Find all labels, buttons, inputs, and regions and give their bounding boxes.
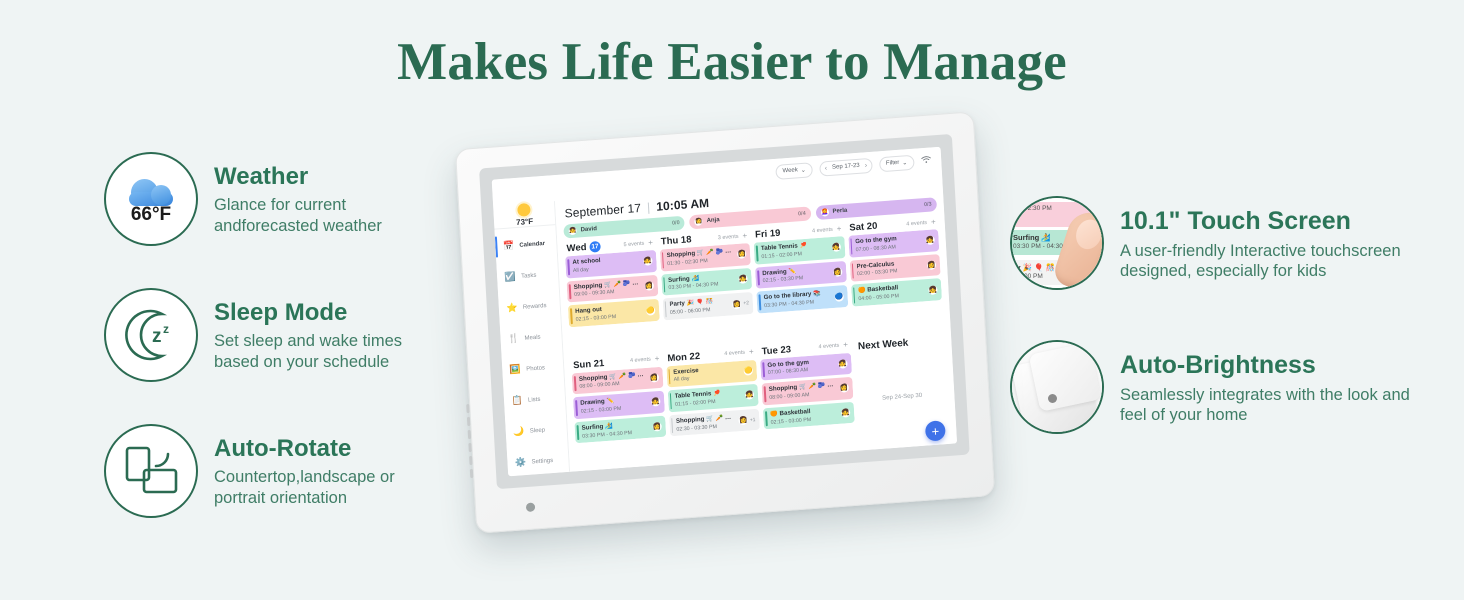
avatar: 🟡	[743, 366, 752, 376]
event-color-bar	[662, 252, 664, 268]
filter-button[interactable]: Filter ⌄	[879, 154, 915, 172]
sidebar-item-label: Sleep	[530, 427, 546, 434]
tasks-icon: ☑️	[504, 271, 517, 284]
light-sensor-icon	[1010, 340, 1104, 434]
rewards-icon: ⭐	[506, 302, 519, 315]
event-text: Shopping 🛒 🥕 🫐 🌶️ 🍅08:00 - 09:00 AM	[767, 381, 840, 402]
event-color-bar	[757, 270, 759, 286]
event-card[interactable]: 🟠 Basketball02:15 - 03:00 PM👧	[763, 402, 854, 430]
feature-desc: Set sleep and wake times based on your s…	[214, 331, 434, 373]
day-event-count: 4 events	[818, 343, 839, 351]
day-name: Sun 21	[573, 357, 605, 370]
sidebar-item-calendar[interactable]: 📅 Calendar	[495, 227, 558, 262]
event-text: Pre-Calculus02:00 - 03:30 PM	[854, 258, 927, 279]
avatar: 👩	[833, 267, 842, 277]
event-color-bar	[669, 393, 671, 409]
avatar: 👩	[732, 299, 741, 309]
add-event-icon[interactable]: +	[931, 218, 936, 226]
event-text: Table Tennis 🏓01:15 - 02:00 PM	[672, 388, 745, 409]
member-task-count: 0/0	[672, 220, 680, 227]
avatar: 👧	[738, 274, 747, 284]
avatar: 👧	[643, 257, 652, 267]
cloud-temperature-icon: 66°F	[104, 152, 198, 246]
feature-touch-screen: 00 - 02:30 PM Surfing 🏄 03:30 PM - 04:30…	[1010, 196, 1410, 290]
day-name: Tue 23	[761, 344, 791, 357]
avatar: 🟡	[645, 306, 654, 316]
event-color-bar	[758, 295, 760, 311]
event-color-bar	[575, 400, 577, 416]
feature-desc: Glance for current andforecasted weather	[214, 195, 434, 237]
event-color-bar	[569, 284, 571, 300]
member-name: Perla	[832, 208, 847, 215]
member-task-count: 0/3	[924, 202, 932, 209]
camera-dot	[526, 502, 535, 512]
chevron-down-icon: ⌄	[902, 159, 907, 166]
event-text: At schoolAll day	[570, 254, 643, 275]
day-meta: 4 events+	[818, 341, 848, 351]
event-text: Table Tennis 🏓01:15 - 02:00 PM	[759, 240, 832, 261]
chevron-down-icon: ⌄	[801, 166, 806, 173]
event-color-bar	[574, 376, 576, 392]
event-card[interactable]: Hang out02:15 - 03:00 PM🟡	[568, 299, 659, 327]
event-text: Drawing ✏️02:15 - 03:00 PM	[578, 395, 651, 416]
day-name: Fri 19	[755, 228, 781, 241]
add-event-icon[interactable]: +	[655, 355, 660, 363]
day-meta: 4 events+	[906, 218, 936, 228]
event-text: Surfing 🏄03:30 PM - 04:30 PM	[580, 419, 653, 440]
event-more-count: +1	[750, 417, 756, 423]
calendar-icon: 📅	[502, 240, 515, 253]
event-card[interactable]: Table Tennis 🏓01:15 - 02:00 PM👧	[667, 384, 758, 412]
current-time: 10:05 AM	[656, 196, 710, 214]
event-color-bar	[762, 362, 764, 378]
tablet-bezel: Week ⌄ ‹ Sep 17-23 › Filter ⌄	[479, 134, 970, 489]
filter-label: Filter	[886, 160, 900, 167]
event-card[interactable]: Drawing ✏️02:15 - 03:00 PM👧	[573, 391, 664, 419]
current-date: September 17	[564, 201, 641, 221]
auto-rotate-icon	[104, 424, 198, 518]
day-event-count: 4 events	[906, 219, 927, 227]
feature-title: Auto-Rotate	[214, 436, 434, 462]
avatar: 👧	[745, 391, 754, 401]
day-label: Wed	[566, 242, 586, 254]
event-text: Go to the gym07:00 - 08:30 AM	[853, 233, 926, 254]
avatar: 👧	[925, 236, 934, 246]
day-column: Sun 214 events+Shopping 🛒 🥕 🫐 🌶️ 🍅08:00 …	[571, 352, 668, 471]
sidebar-item-sleep[interactable]: 🌙 Sleep	[505, 413, 568, 448]
tablet-illustration: Week ⌄ ‹ Sep 17-23 › Filter ⌄	[455, 120, 1015, 560]
event-list: Shopping 🛒 🥕 🫐 🌶️ 🍅08:00 - 09:00 AM👩Draw…	[572, 366, 666, 443]
day-meta: 4 events+	[724, 348, 754, 358]
avatar: 👧	[838, 359, 847, 369]
event-text: Go to the gym07:00 - 08:30 AM	[765, 356, 838, 377]
event-card[interactable]: Surfing 🏄03:30 PM - 04:30 PM👧	[661, 268, 752, 296]
avatar: 👧	[831, 243, 840, 253]
page-title: Makes Life Easier to Manage	[0, 32, 1464, 92]
avatar: 🔵	[834, 292, 843, 302]
sidebar-item-lists[interactable]: 📋 Lists	[503, 382, 566, 417]
event-color-bar	[765, 411, 767, 427]
sidebar-item-label: Meals	[524, 334, 540, 341]
day-name: Sat 20	[849, 221, 878, 234]
day-label: Fri 19	[755, 228, 781, 241]
event-color-bar	[671, 418, 673, 434]
member-task-count: 0/4	[798, 211, 806, 218]
feature-title: 10.1" Touch Screen	[1120, 208, 1410, 236]
view-selector[interactable]: Week ⌄	[775, 162, 813, 180]
event-text: Party 🎉 🎈 🎊05:00 - 06:00 PM	[667, 297, 732, 317]
date-time-separator: |	[647, 200, 651, 214]
event-list: ExerciseAll day🟡Table Tennis 🏓01:15 - 02…	[666, 359, 760, 436]
event-card[interactable]: Shopping 🛒 🥕 🫐 🌶️ 🍅08:00 - 09:00 AM👩	[761, 377, 852, 405]
event-color-bar	[664, 302, 666, 318]
date-range-label: Sep 17-23	[832, 163, 860, 171]
settings-icon: ⚙️	[514, 456, 527, 469]
event-card[interactable]: Shopping 🛒 🥕 🫐 🌶️ 🍅02:30 - 03:30 PM👩+1	[669, 409, 760, 437]
avatar: 👩	[644, 281, 653, 291]
event-list: Go to the gym07:00 - 08:30 AM👧Shopping 🛒…	[760, 352, 854, 429]
event-text: ExerciseAll day	[671, 363, 744, 384]
avatar: 👩	[649, 373, 658, 383]
lists-icon: 📋	[511, 395, 524, 408]
day-name: Mon 22	[667, 350, 700, 363]
weather-badge-temp: 66°F	[106, 204, 196, 226]
speaker-grille	[466, 400, 478, 496]
day-event-count: 4 events	[724, 350, 745, 358]
event-text: Shopping 🛒 🥕 🫐 🌶️ 🍅08:00 - 09:00 AM	[577, 370, 650, 391]
event-color-bar	[853, 288, 855, 304]
svg-text:z: z	[152, 326, 162, 347]
day-name: Thu 18	[661, 234, 692, 247]
touch-finger-icon: 00 - 02:30 PM Surfing 🏄 03:30 PM - 04:30…	[1010, 196, 1104, 290]
day-meta: 4 events+	[812, 225, 842, 235]
avatar: 👧	[651, 397, 660, 407]
event-color-bar	[668, 369, 670, 385]
tablet-screen: Week ⌄ ‹ Sep 17-23 › Filter ⌄	[492, 147, 957, 477]
next-week-panel[interactable]: Next WeekSep 24-Sep 30+	[854, 331, 951, 450]
event-color-bar	[851, 263, 853, 279]
feature-desc: Countertop,landscape or portrait orienta…	[214, 467, 434, 509]
day-label: Mon 22	[667, 350, 700, 363]
next-week-icon[interactable]: ›	[865, 162, 868, 169]
avatar: 👩	[737, 250, 746, 260]
member-name: Anja	[706, 217, 719, 224]
day-meta: 5 events+	[623, 239, 653, 249]
event-color-bar	[567, 259, 569, 275]
day-label: Sun 21	[573, 357, 605, 370]
day-column: Sat 204 events+Go to the gym07:00 - 08:3…	[847, 215, 944, 334]
feature-sleep-mode: z z Sleep Mode Set sleep and wake times …	[104, 288, 434, 382]
event-text: Shopping 🛒 🥕 🫐 🌶️ 🍅09:00 - 09:30 AM	[572, 278, 645, 299]
prev-week-icon[interactable]: ‹	[825, 165, 828, 172]
left-feature-list: 66°F Weather Glance for current andforec…	[104, 152, 434, 560]
feature-title: Auto-Brightness	[1120, 352, 1410, 380]
photos-icon: 🖼️	[509, 364, 522, 377]
event-text: Shopping 🛒 🥕 🫐 🌶️ 🍅01:30 - 02:30 PM	[664, 247, 737, 268]
event-card[interactable]: Shopping 🛒 🥕 🫐 🌶️ 🍅09:00 - 09:30 AM👩	[566, 274, 657, 302]
avatar: 👧	[568, 227, 576, 236]
add-event-icon[interactable]: +	[837, 225, 842, 233]
event-text: Drawing ✏️02:15 - 03:30 PM	[760, 265, 833, 286]
feature-title: Weather	[214, 164, 434, 190]
day-event-count: 4 events	[630, 357, 651, 365]
member-name: David	[580, 226, 597, 233]
date-range-nav[interactable]: ‹ Sep 17-23 ›	[819, 157, 872, 176]
day-event-count: 5 events	[623, 240, 644, 248]
meals-icon: 🍴	[507, 333, 520, 346]
event-card[interactable]: Drawing ✏️02:15 - 03:30 PM👩	[755, 261, 846, 289]
sidebar-item-label: Photos	[526, 365, 545, 372]
avatar: 👩	[739, 416, 748, 426]
day-column: Tue 234 events+Go to the gym07:00 - 08:3…	[759, 338, 856, 457]
avatar: 👩‍🦰	[820, 208, 828, 217]
day-column: Thu 183 events+Shopping 🛒 🥕 🫐 🌶️ 🍅01:30 …	[659, 229, 756, 348]
add-event-icon[interactable]: +	[843, 341, 848, 349]
sidebar-item-photos[interactable]: 🖼️ Photos	[502, 351, 565, 386]
day-event-count: 3 events	[718, 233, 739, 241]
sidebar-item-label: Settings	[531, 457, 553, 465]
calendar-main: September 17 | 10:05 AM 👧 David 0/0	[555, 173, 957, 472]
day-label: Thu 18	[661, 234, 692, 247]
sidebar-temperature: 73°F	[516, 217, 533, 227]
day-name: Wed17	[566, 241, 600, 254]
add-event-icon[interactable]: +	[648, 239, 653, 247]
feature-auto-brightness: Auto-Brightness Seamlessly integrates wi…	[1010, 340, 1410, 434]
day-column: Wed175 events+At schoolAll day👧Shopping …	[564, 236, 661, 355]
week-grid: Wed175 events+At schoolAll day👧Shopping …	[564, 215, 950, 471]
add-event-icon[interactable]: +	[742, 232, 747, 240]
event-text: Go to the library 📚03:30 PM - 04:30 PM	[761, 289, 834, 310]
event-color-bar	[577, 425, 579, 441]
sidebar-item-tasks[interactable]: ☑️ Tasks	[496, 258, 559, 293]
day-label: Tue 23	[761, 344, 791, 357]
feature-title: Sleep Mode	[214, 300, 434, 326]
event-list: At schoolAll day👧Shopping 🛒 🥕 🫐 🌶️ 🍅09:0…	[565, 250, 659, 327]
avatar: 👩	[839, 384, 848, 394]
sidebar-item-label: Rewards	[523, 303, 547, 311]
view-selector-label: Week	[782, 167, 798, 174]
event-card[interactable]: Surfing 🏄03:30 PM - 04:30 PM👩	[574, 415, 665, 443]
event-card[interactable]: Party 🎉 🎈 🎊05:00 - 06:00 PM👩+2	[662, 292, 753, 320]
event-list: Shopping 🛒 🥕 🫐 🌶️ 🍅01:30 - 02:30 PM👩Surf…	[659, 243, 753, 320]
svg-text:z: z	[163, 322, 169, 336]
day-event-count: 4 events	[812, 226, 833, 234]
sidebar-item-meals[interactable]: 🍴 Meals	[500, 320, 563, 355]
right-feature-list: 00 - 02:30 PM Surfing 🏄 03:30 PM - 04:30…	[1010, 196, 1410, 484]
feature-auto-rotate: Auto-Rotate Countertop,landscape or port…	[104, 424, 434, 518]
avatar: 👧	[928, 285, 937, 295]
today-badge: 17	[589, 241, 601, 253]
event-text: Shopping 🛒 🥕 🫐 🌶️ 🍅02:30 - 03:30 PM	[674, 413, 739, 433]
feature-weather: 66°F Weather Glance for current andforec…	[104, 152, 434, 246]
event-text: 🟠 Basketball04:00 - 05:00 PM	[856, 282, 929, 303]
avatar: 👩	[927, 260, 936, 270]
event-list: Table Tennis 🏓01:15 - 02:00 PM👧Drawing ✏…	[754, 236, 848, 313]
avatar: 👧	[840, 408, 849, 418]
event-list: Go to the gym07:00 - 08:30 AM👧Pre-Calcul…	[848, 229, 942, 306]
event-color-bar	[663, 277, 665, 293]
event-card[interactable]: Go to the library 📚03:30 PM - 04:30 PM🔵	[756, 285, 847, 313]
moon-zz-icon: z z	[104, 288, 198, 382]
sidebar-item-label: Calendar	[519, 240, 545, 248]
sidebar-item-settings[interactable]: ⚙️ Settings	[507, 444, 570, 476]
sleep-icon: 🌙	[512, 425, 525, 438]
event-text: Hang out02:15 - 03:00 PM	[573, 303, 646, 324]
event-color-bar	[764, 386, 766, 402]
day-label: Sat 20	[849, 221, 878, 234]
sidebar-item-label: Lists	[528, 396, 541, 403]
day-column: Mon 224 events+ExerciseAll day🟡Table Ten…	[665, 345, 762, 464]
day-meta: 4 events+	[630, 355, 660, 365]
event-more-count: +2	[743, 300, 749, 306]
sidebar-item-rewards[interactable]: ⭐ Rewards	[498, 289, 561, 324]
day-column: Fri 194 events+Table Tennis 🏓01:15 - 02:…	[753, 222, 850, 341]
tablet-device: Week ⌄ ‹ Sep 17-23 › Filter ⌄	[455, 111, 995, 534]
event-color-bar	[756, 245, 758, 261]
event-color-bar	[570, 308, 572, 324]
add-event-icon[interactable]: +	[749, 348, 754, 356]
sidebar-item-label: Tasks	[521, 272, 537, 279]
event-card[interactable]: Pre-Calculus02:00 - 03:30 PM👩	[849, 254, 940, 282]
event-card[interactable]: 🟠 Basketball04:00 - 05:00 PM👧	[851, 278, 942, 306]
sun-icon	[517, 203, 531, 217]
feature-desc: A user-friendly Interactive touchscreen …	[1120, 241, 1410, 283]
event-color-bar	[850, 239, 852, 255]
wifi-icon	[921, 155, 932, 166]
event-text: 🟠 Basketball02:15 - 03:00 PM	[768, 406, 841, 427]
avatar: 👩	[652, 422, 661, 432]
feature-desc: Seamlessly integrates with the look and …	[1120, 385, 1410, 427]
avatar: 👩	[694, 217, 702, 226]
event-text: Surfing 🏄03:30 PM - 04:30 PM	[666, 272, 739, 293]
day-meta: 3 events+	[718, 232, 748, 242]
